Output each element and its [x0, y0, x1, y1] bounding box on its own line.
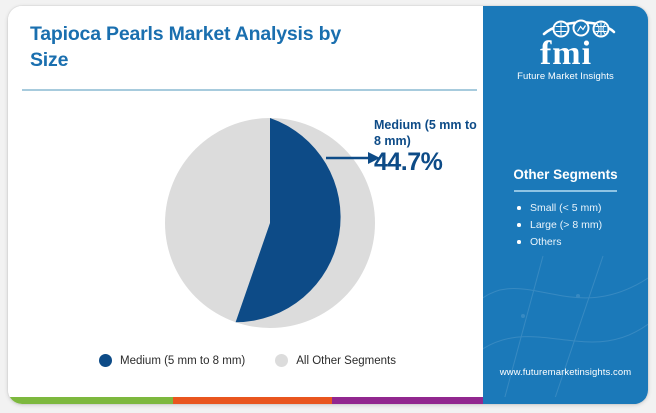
brand-sidebar: fmi Future Market Insights Other Segment… — [483, 6, 648, 404]
segment-item-small: Small (< 5 mm) — [517, 200, 642, 217]
website-url[interactable]: www.futuremarketinsights.com — [483, 367, 648, 378]
fmi-logo-icon: fmi — [506, 14, 626, 70]
screenshot-root: Tapioca Pearls Market Analysis by Size M… — [0, 0, 656, 413]
bar-segment-orange — [173, 397, 332, 404]
chart-pane: Tapioca Pearls Market Analysis by Size M… — [8, 6, 483, 404]
legend-item-all-other-segments[interactable]: All Other Segments — [275, 354, 396, 367]
other-segments-list: Small (< 5 mm) Large (> 8 mm) Others — [517, 200, 642, 251]
report-card: Tapioca Pearls Market Analysis by Size M… — [8, 6, 648, 404]
callout-value: 44.7% — [374, 150, 482, 175]
segment-item-others: Others — [517, 234, 642, 251]
title-divider — [22, 89, 477, 91]
fmi-logo[interactable]: fmi Future Market Insights — [483, 14, 648, 82]
callout-block: Medium (5 mm to 8 mm) 44.7% — [374, 117, 482, 175]
other-segments-divider — [514, 190, 617, 192]
svg-text:fmi: fmi — [539, 35, 591, 70]
bar-segment-green — [8, 397, 173, 404]
legend-item-medium[interactable]: Medium (5 mm to 8 mm) — [99, 354, 245, 367]
bar-segment-blue — [483, 397, 648, 404]
bottom-color-bar — [8, 397, 648, 404]
fmi-logo-tagline: Future Market Insights — [483, 71, 648, 82]
pie-chart-svg — [157, 107, 383, 333]
legend-swatch-all-other-segments — [275, 354, 288, 367]
chart-legend: Medium (5 mm to 8 mm) All Other Segments — [99, 354, 396, 367]
pie-chart — [157, 107, 383, 333]
legend-label-medium: Medium (5 mm to 8 mm) — [120, 355, 245, 367]
bar-segment-purple — [332, 397, 483, 404]
callout-label: Medium (5 mm to 8 mm) — [374, 117, 482, 149]
legend-label-all-other-segments: All Other Segments — [296, 355, 396, 367]
legend-swatch-medium — [99, 354, 112, 367]
page-title: Tapioca Pearls Market Analysis by Size — [30, 22, 360, 74]
other-segments-title: Other Segments — [483, 167, 648, 182]
segment-item-large: Large (> 8 mm) — [517, 217, 642, 234]
